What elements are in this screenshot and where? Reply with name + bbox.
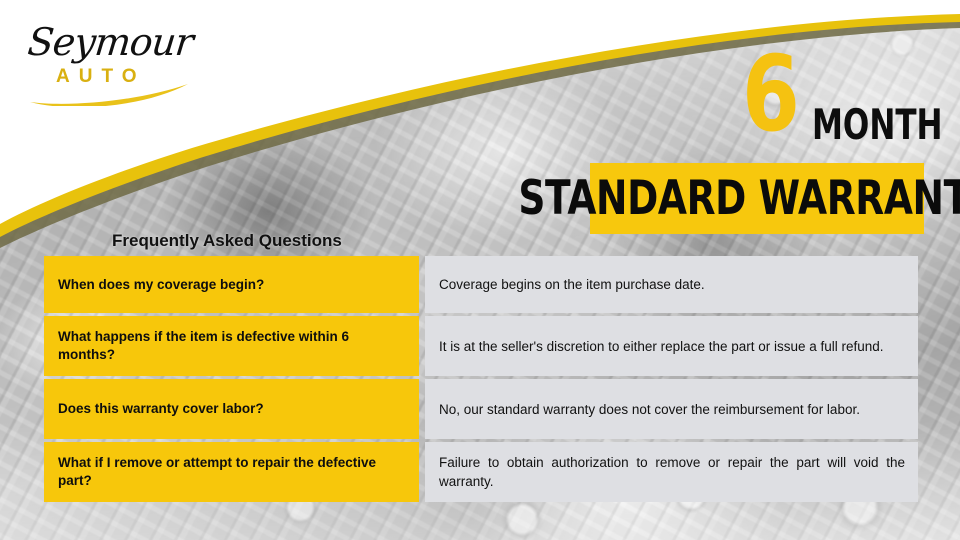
faq-answer-cell: Coverage begins on the item purchase dat… <box>425 256 918 313</box>
logo-sub-text: AUTO <box>56 66 145 88</box>
warranty-faq-slide: Seymour AUTO 6 MONTH STANDARD WARRANTY F… <box>0 0 960 540</box>
faq-answer-cell: No, our standard warranty does not cover… <box>425 379 918 439</box>
seymour-auto-logo[interactable]: Seymour AUTO <box>18 14 198 106</box>
standard-warranty-label: STANDARD WARRANTY <box>623 163 890 234</box>
faq-answer-cell: Failure to obtain authorization to remov… <box>425 442 918 502</box>
faq-answer-text: Failure to obtain authorization to remov… <box>439 453 905 491</box>
faq-row: What if I remove or attempt to repair th… <box>44 442 918 502</box>
faq-heading: Frequently Asked Questions <box>112 231 342 251</box>
warranty-term-unit: MONTH <box>812 104 943 146</box>
faq-question-cell: When does my coverage begin? <box>44 256 419 313</box>
faq-table: When does my coverage begin? Coverage be… <box>44 256 918 505</box>
warranty-term-number: 6 <box>742 42 798 146</box>
standard-warranty-banner: STANDARD WARRANTY <box>590 163 924 234</box>
faq-row: What happens if the item is defective wi… <box>44 316 918 376</box>
faq-answer-text: No, our standard warranty does not cover… <box>439 400 905 419</box>
faq-row: When does my coverage begin? Coverage be… <box>44 256 918 313</box>
faq-answer-text: Coverage begins on the item purchase dat… <box>439 275 905 294</box>
logo-script-text: Seymour <box>26 20 195 64</box>
faq-row: Does this warranty cover labor? No, our … <box>44 379 918 439</box>
faq-question-cell: What happens if the item is defective wi… <box>44 316 419 376</box>
faq-answer-text: It is at the seller's discretion to eith… <box>439 337 905 356</box>
faq-question-cell: Does this warranty cover labor? <box>44 379 419 439</box>
faq-answer-cell: It is at the seller's discretion to eith… <box>425 316 918 376</box>
faq-question-cell: What if I remove or attempt to repair th… <box>44 442 419 502</box>
